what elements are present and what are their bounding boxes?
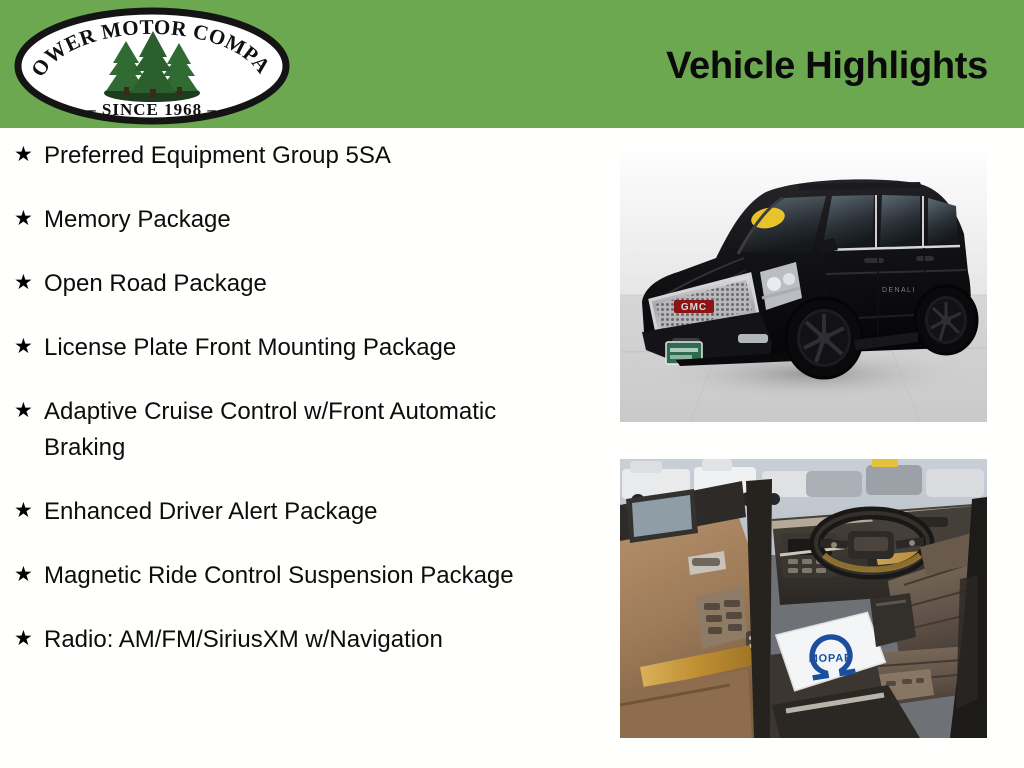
list-item: ★ Adaptive Cruise Control w/Front Automa… [0, 394, 600, 466]
list-item: ★ Magnetic Ride Control Suspension Packa… [0, 558, 600, 594]
highlight-label: Preferred Equipment Group 5SA [44, 138, 574, 174]
list-item: ★ Radio: AM/FM/SiriusXM w/Navigation [0, 622, 600, 658]
highlight-label: Enhanced Driver Alert Package [44, 494, 574, 530]
star-bullet-icon: ★ [14, 494, 44, 528]
highlight-label: Open Road Package [44, 266, 574, 302]
star-bullet-icon: ★ [14, 394, 44, 428]
highlight-label: License Plate Front Mounting Package [44, 330, 574, 366]
highlight-label: Memory Package [44, 202, 574, 238]
highlight-label: Adaptive Cruise Control w/Front Automati… [44, 394, 574, 466]
dealer-logo: FLOWER MOTOR COMPANY [13, 7, 291, 125]
list-item: ★ Preferred Equipment Group 5SA [0, 138, 600, 174]
highlight-label: Radio: AM/FM/SiriusXM w/Navigation [44, 622, 574, 658]
list-item: ★ License Plate Front Mounting Package [0, 330, 600, 366]
page-header: FLOWER MOTOR COMPANY [0, 0, 1024, 128]
star-bullet-icon: ★ [14, 558, 44, 592]
vehicle-highlights-list: ★ Preferred Equipment Group 5SA ★ Memory… [0, 138, 600, 686]
svg-text:DENALI: DENALI [882, 287, 916, 294]
list-item: ★ Enhanced Driver Alert Package [0, 494, 600, 530]
vehicle-interior-photo: MOPAR [620, 459, 987, 738]
svg-text:– SINCE 1968 –: – SINCE 1968 – [86, 100, 217, 119]
list-item: ★ Open Road Package [0, 266, 600, 302]
svg-text:GMC: GMC [681, 302, 707, 313]
vehicle-exterior-photo: DENALI GMC [620, 152, 987, 422]
star-bullet-icon: ★ [14, 202, 44, 236]
star-bullet-icon: ★ [14, 266, 44, 300]
list-item: ★ Memory Package [0, 202, 600, 238]
svg-text:MOPAR: MOPAR [809, 652, 853, 665]
page-title: Vehicle Highlights [666, 42, 988, 90]
highlight-label: Magnetic Ride Control Suspension Package [44, 558, 574, 594]
star-bullet-icon: ★ [14, 330, 44, 364]
star-bullet-icon: ★ [14, 622, 44, 656]
star-bullet-icon: ★ [14, 138, 44, 172]
